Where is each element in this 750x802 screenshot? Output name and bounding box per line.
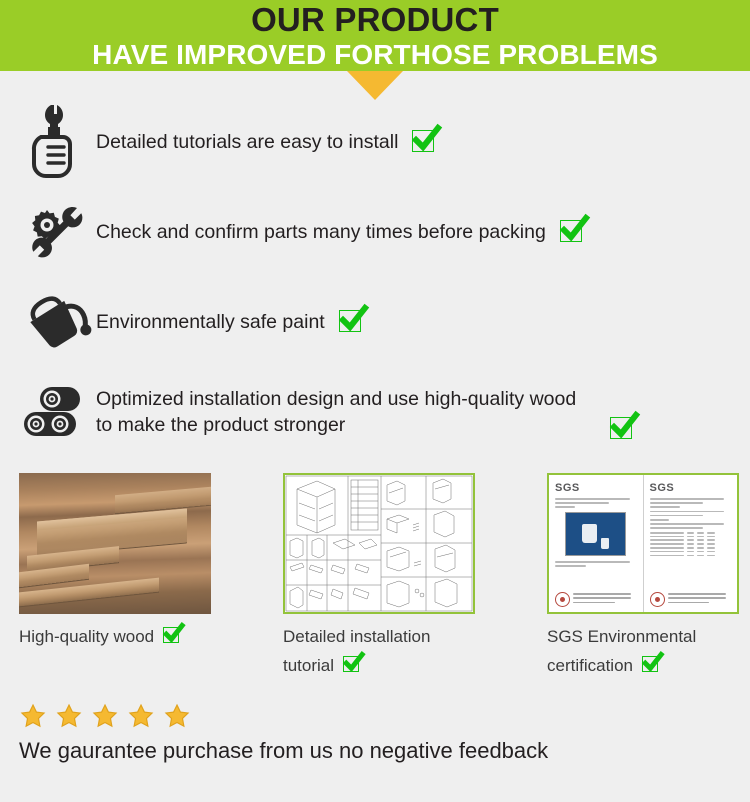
certificate-page-right: SGS bbox=[643, 475, 738, 612]
paint-bucket-icon bbox=[18, 291, 96, 353]
star-icon bbox=[91, 702, 119, 730]
page-title: OUR PRODUCT bbox=[0, 2, 750, 38]
sgs-logo: SGS bbox=[555, 482, 637, 494]
card-sgs-certification: SGS SGS bbox=[547, 473, 739, 680]
star-icon bbox=[19, 702, 47, 730]
certificate-page-left: SGS bbox=[549, 475, 643, 612]
feature-label: Detailed tutorials are easy to install bbox=[96, 129, 398, 155]
card-caption-text: High-quality wood bbox=[19, 627, 154, 646]
card-caption: Detailed installation tutorial bbox=[283, 622, 475, 680]
feature-label: Check and confirm parts many times befor… bbox=[96, 219, 546, 245]
wood-boards-photo bbox=[19, 473, 211, 614]
green-checkmark-icon bbox=[560, 220, 584, 244]
certificate-seal bbox=[555, 592, 637, 607]
feature-label: Environmentally safe paint bbox=[96, 309, 325, 335]
certificate-seal bbox=[650, 592, 732, 607]
installation-diagram-image bbox=[283, 473, 475, 614]
star-icon bbox=[127, 702, 155, 730]
feature-item: Detailed tutorials are easy to install bbox=[18, 97, 750, 187]
feature-item: Environmentally safe paint bbox=[18, 277, 750, 367]
green-checkmark-icon bbox=[339, 310, 363, 334]
certificate-product-photo bbox=[565, 512, 626, 556]
star-icon bbox=[55, 702, 83, 730]
page-subtitle: HAVE IMPROVED FORTHOSE PROBLEMS bbox=[0, 38, 750, 71]
sgs-certificate-image: SGS SGS bbox=[547, 473, 739, 614]
green-checkmark-icon bbox=[412, 130, 436, 154]
card-caption: High-quality wood bbox=[19, 622, 211, 651]
star-icon bbox=[163, 702, 191, 730]
green-checkmark-icon bbox=[610, 417, 634, 441]
hand-holding-wrench-icon bbox=[18, 103, 96, 181]
card-caption-text: SGS Environmental certification bbox=[547, 627, 696, 675]
feature-list: Detailed tutorials are easy to install C… bbox=[0, 97, 750, 457]
header-banner: OUR PRODUCT HAVE IMPROVED FORTHOSE PROBL… bbox=[0, 0, 750, 71]
feature-item: Check and confirm parts many times befor… bbox=[18, 187, 750, 277]
green-checkmark-icon bbox=[343, 656, 360, 673]
gear-and-wrench-icon bbox=[18, 200, 96, 264]
feature-label: Optimized installation design and use hi… bbox=[96, 386, 596, 438]
green-checkmark-icon bbox=[642, 656, 659, 673]
sgs-logo: SGS bbox=[650, 482, 732, 494]
stacked-logs-icon bbox=[18, 385, 96, 439]
feature-item: Optimized installation design and use hi… bbox=[18, 367, 750, 457]
guarantee-text: We gaurantee purchase from us no negativ… bbox=[0, 738, 750, 764]
card-caption: SGS Environmental certification bbox=[547, 622, 739, 680]
card-installation-tutorial: Detailed installation tutorial bbox=[283, 473, 475, 680]
triangle-down-icon bbox=[347, 71, 403, 100]
green-checkmark-icon bbox=[163, 627, 180, 644]
star-rating bbox=[0, 702, 750, 730]
card-high-quality-wood: High-quality wood bbox=[19, 473, 211, 680]
product-proof-cards: High-quality wood bbox=[0, 473, 750, 680]
